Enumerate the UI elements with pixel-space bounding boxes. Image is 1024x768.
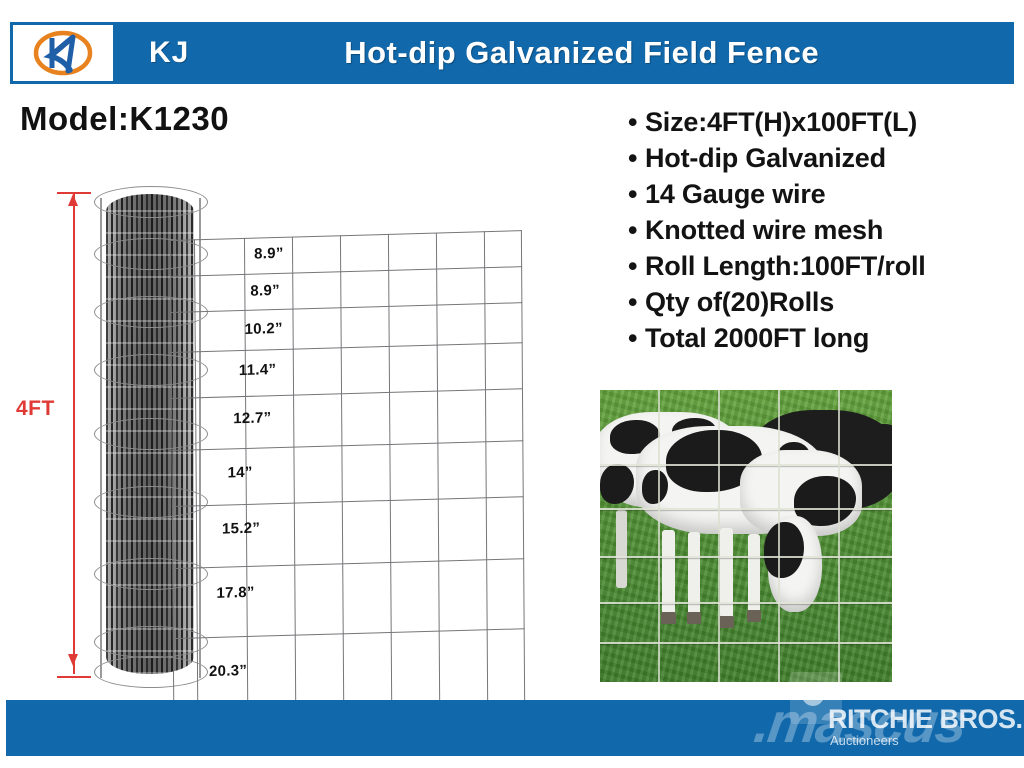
ritchie-bros-watermark: RITCHIE BROS. Auctioneers	[828, 704, 1023, 748]
mesh-horizontal-wire	[171, 440, 523, 451]
bullet-icon: •	[628, 248, 645, 284]
bullet-icon: •	[628, 140, 645, 176]
list-item: •Roll Length:100FT/roll	[628, 248, 1018, 284]
fence-diagram: 4FT 8.9” 8.9”	[10, 170, 570, 700]
mesh-horizontal-wire	[172, 496, 524, 507]
arrow-down-icon	[68, 654, 78, 666]
mesh-grid: 8.9” 8.9” 10.2” 11.4” 12.7” 14” 15.2” 17…	[170, 230, 525, 720]
bullet-icon: •	[628, 104, 645, 140]
spec-text: 14 Gauge wire	[645, 179, 825, 209]
spec-text: Hot-dip Galvanized	[645, 143, 886, 173]
fence-wire	[600, 602, 892, 604]
cow-hoof	[687, 612, 701, 624]
spec-text: Qty of(20)Rolls	[645, 287, 834, 317]
specification-list: •Size:4FT(H)x100FT(L) •Hot-dip Galvanize…	[628, 104, 1018, 356]
roll-edge-wire	[100, 198, 102, 678]
bullet-icon: •	[628, 212, 645, 248]
spacing-label: 12.7”	[233, 409, 271, 427]
fence-post	[658, 390, 660, 682]
fence-wire	[600, 464, 892, 466]
dimension-cap-bottom	[57, 676, 91, 678]
kj-ellipse-logo-icon	[32, 29, 94, 77]
list-item: •Qty of(20)Rolls	[628, 284, 1018, 320]
fence-wire	[600, 556, 892, 558]
height-dimension-arrow	[54, 184, 94, 684]
list-item: •Knotted wire mesh	[628, 212, 1018, 248]
spec-text: Knotted wire mesh	[645, 215, 883, 245]
mesh-horizontal-wire	[171, 342, 523, 353]
brand-name: KJ	[149, 36, 189, 70]
cow-leg	[720, 528, 733, 618]
bullet-icon: •	[628, 320, 645, 356]
header-bar: KJ Hot-dip Galvanized Field Fence	[10, 22, 1014, 84]
cow-hoof	[747, 610, 761, 622]
height-label: 4FT	[16, 397, 55, 421]
mesh-horizontal-wire	[171, 388, 523, 399]
logo-container	[13, 25, 113, 81]
cow-hoof	[661, 612, 676, 624]
spacing-label: 14”	[228, 464, 253, 482]
cow-patch	[600, 464, 634, 504]
roll-hoop	[94, 186, 208, 218]
spacing-label: 8.9”	[250, 282, 280, 300]
mesh-vertical-wire	[521, 230, 526, 710]
cow-hoof	[719, 616, 734, 628]
bullet-icon: •	[628, 176, 645, 212]
mesh-horizontal-wire	[170, 266, 522, 277]
cow-black-head	[862, 424, 892, 478]
bullet-icon: •	[628, 284, 645, 320]
list-item: •14 Gauge wire	[628, 176, 1018, 212]
spec-text: Size:4FT(H)x100FT(L)	[645, 107, 917, 137]
ritchie-bros-subtitle: Auctioneers	[830, 733, 1023, 748]
spacing-label: 15.2”	[222, 520, 260, 538]
list-item: •Total 2000FT long	[628, 320, 1018, 356]
arrow-up-icon	[68, 194, 78, 206]
list-item: •Hot-dip Galvanized	[628, 140, 1018, 176]
spacing-label: 8.9”	[254, 245, 284, 263]
cow-patch	[642, 470, 668, 504]
fence-wire	[600, 642, 892, 644]
page-title: Hot-dip Galvanized Field Fence	[189, 35, 1014, 71]
spacing-label: 20.3”	[209, 662, 247, 680]
spec-text: Roll Length:100FT/roll	[645, 251, 926, 281]
mesh-horizontal-wire	[172, 558, 524, 569]
ritchie-bros-title: RITCHIE BROS.	[828, 704, 1023, 735]
cattle-behind-fence-photo	[600, 390, 892, 682]
fence-post	[838, 390, 840, 682]
model-label: Model:K1230	[20, 100, 229, 138]
mesh-horizontal-wire	[170, 230, 522, 241]
fence-wire	[600, 508, 892, 510]
spacing-label: 10.2”	[245, 320, 283, 338]
cow-leg	[616, 510, 627, 588]
spacing-label: 17.8”	[216, 584, 254, 602]
cow-patch	[764, 522, 804, 578]
fence-post	[778, 390, 780, 682]
mesh-horizontal-wire	[171, 302, 523, 313]
cow-head-lowered	[768, 516, 822, 612]
list-item: •Size:4FT(H)x100FT(L)	[628, 104, 1018, 140]
mesh-horizontal-wire	[173, 628, 525, 639]
dimension-line	[73, 194, 75, 674]
spec-text: Total 2000FT long	[645, 323, 869, 353]
spacing-label: 11.4”	[239, 361, 276, 379]
fence-post	[718, 390, 720, 682]
